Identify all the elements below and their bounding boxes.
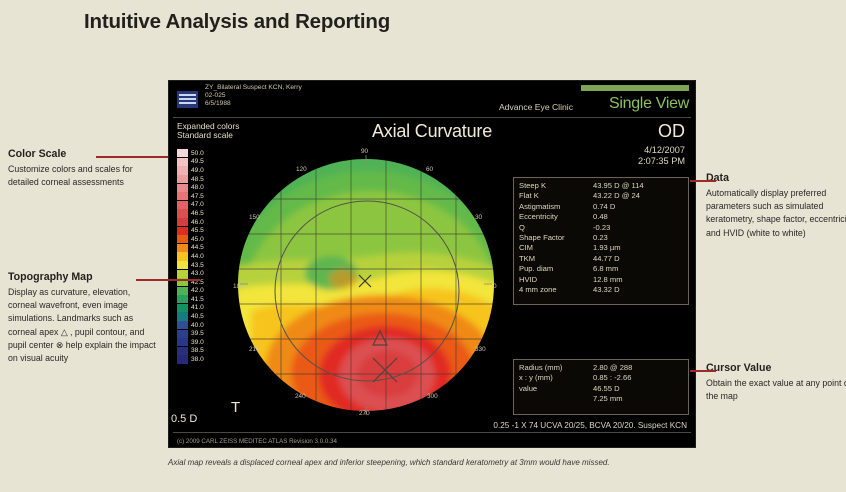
- color-scale-value: 45.0: [191, 236, 204, 243]
- color-scale-value: 41.5: [191, 296, 204, 303]
- data-row-value: 6.8 mm: [593, 264, 683, 274]
- leader-line-topography-map: [136, 279, 200, 281]
- color-swatch: [177, 338, 188, 346]
- color-swatch: [177, 330, 188, 338]
- data-row-key: x : y (mm): [519, 373, 593, 383]
- color-scale-value: 38.0: [191, 356, 204, 363]
- data-row: value46.55 D: [519, 384, 683, 394]
- svg-text:330: 330: [475, 346, 486, 353]
- color-scale-value: 40.5: [191, 313, 204, 320]
- device-screenshot: ZY_Bilateral Suspect KCN, Kerry 02-025 6…: [168, 80, 696, 448]
- data-row-key: value: [519, 384, 593, 394]
- annotation-title: Data: [706, 172, 846, 184]
- data-row: 4 mm zone43.32 D: [519, 285, 683, 295]
- zeiss-logo: [177, 91, 198, 108]
- svg-text:300: 300: [427, 393, 438, 400]
- data-row-value: 1.93 µm: [593, 243, 683, 253]
- color-scale-value: 42.0: [191, 287, 204, 294]
- color-scale-value: 50.0: [191, 150, 204, 157]
- data-row: x : y (mm)0.85 : -2.66: [519, 373, 683, 383]
- leader-line-data: [690, 180, 716, 182]
- data-row-key: HVID: [519, 275, 593, 285]
- patient-id: 02-025: [205, 92, 302, 100]
- annotation-data: Data Automatically display preferred par…: [706, 172, 846, 240]
- color-scale-value: 48.0: [191, 184, 204, 191]
- color-swatch: [177, 166, 188, 174]
- clinic-name: Advance Eye Clinic: [499, 102, 573, 112]
- color-swatch: [177, 192, 188, 200]
- color-scale-value: 47.0: [191, 201, 204, 208]
- patient-info: ZY_Bilateral Suspect KCN, Kerry 02-025 6…: [205, 84, 302, 108]
- svg-text:210: 210: [249, 346, 260, 353]
- color-swatch: [177, 304, 188, 312]
- map-title: Axial Curvature: [169, 121, 695, 142]
- color-scale-value: 39.5: [191, 330, 204, 337]
- data-row: Astigmatism0.74 D: [519, 202, 683, 212]
- device-footer: (c) 2009 CARL ZEISS MEDITEC ATLAS Revisi…: [177, 438, 337, 445]
- cursor-value-panel[interactable]: Radius (mm)2.80 @ 288x : y (mm)0.85 : -2…: [513, 359, 689, 415]
- color-scale-value: 46.5: [191, 210, 204, 217]
- data-row: Radius (mm)2.80 @ 288: [519, 363, 683, 373]
- annotation-body: Automatically display preferred paramete…: [706, 187, 846, 240]
- annotation-cursor-value: Cursor Value Obtain the exact value at a…: [706, 362, 846, 403]
- color-swatch: [177, 175, 188, 183]
- data-row: Shape Factor0.23: [519, 233, 683, 243]
- data-row: Pup. diam6.8 mm: [519, 264, 683, 274]
- data-row-key: Steep K: [519, 181, 593, 191]
- temporal-label: T: [231, 399, 240, 416]
- data-row-key: Radius (mm): [519, 363, 593, 373]
- color-scale-value: 38.5: [191, 347, 204, 354]
- data-row: Flat K43.22 D @ 24: [519, 191, 683, 201]
- svg-text:270: 270: [359, 410, 370, 417]
- color-swatch: [177, 184, 188, 192]
- data-row-key: Pup. diam: [519, 264, 593, 274]
- patient-dob: 6/5/1988: [205, 100, 302, 108]
- color-scale-value: 44.0: [191, 253, 204, 260]
- data-row-key: Shape Factor: [519, 233, 593, 243]
- annotation-title: Topography Map: [8, 271, 158, 283]
- annotation-title: Cursor Value: [706, 362, 846, 374]
- data-row-value: 2.80 @ 288: [593, 363, 683, 373]
- color-swatch: [177, 355, 188, 363]
- data-row-key: Q: [519, 223, 593, 233]
- exam-date: 4/12/2007: [638, 145, 685, 156]
- data-row-key: CIM: [519, 243, 593, 253]
- data-row-value: 0.85 : -2.66: [593, 373, 683, 383]
- header-divider: [173, 117, 691, 118]
- data-row: CIM1.93 µm: [519, 243, 683, 253]
- data-row-value: 0.23: [593, 233, 683, 243]
- color-swatch: [177, 312, 188, 320]
- data-row-value: 44.77 D: [593, 254, 683, 264]
- topography-map-svg: 9012060 15030 1800 210330 240300 270: [221, 143, 511, 433]
- color-scale-value: 40.0: [191, 322, 204, 329]
- color-swatch: [177, 227, 188, 235]
- eye-label: OD: [658, 121, 685, 142]
- color-scale-value: 43.0: [191, 270, 204, 277]
- data-panel[interactable]: Steep K43.95 D @ 114Flat K43.22 D @ 24As…: [513, 177, 689, 305]
- color-swatch: [177, 235, 188, 243]
- data-row: Eccentricity0.48: [519, 212, 683, 222]
- svg-text:30: 30: [475, 214, 483, 221]
- figure-caption: Axial map reveals a displaced corneal ap…: [168, 458, 788, 467]
- data-row-key: [519, 394, 593, 404]
- color-swatch: [177, 295, 188, 303]
- color-scale-value: 44.5: [191, 244, 204, 251]
- view-mode-label[interactable]: Single View: [609, 95, 689, 113]
- data-row-key: 4 mm zone: [519, 285, 593, 295]
- color-scale-value: 39.0: [191, 339, 204, 346]
- color-swatch: [177, 218, 188, 226]
- color-swatch: [177, 287, 188, 295]
- data-row-value: 43.95 D @ 114: [593, 181, 683, 191]
- data-row-key: Flat K: [519, 191, 593, 201]
- data-row-value: 43.22 D @ 24: [593, 191, 683, 201]
- color-scale-value: 49.0: [191, 167, 204, 174]
- patient-name: ZY_Bilateral Suspect KCN, Kerry: [205, 84, 302, 92]
- annotation-title: Color Scale: [8, 148, 158, 160]
- svg-text:90: 90: [361, 148, 369, 155]
- data-row: TKM44.77 D: [519, 254, 683, 264]
- leader-line-color-scale: [96, 156, 168, 158]
- data-row: Q-0.23: [519, 223, 683, 233]
- svg-text:120: 120: [296, 166, 307, 173]
- exam-time: 2:07:35 PM: [638, 156, 685, 167]
- page-title: Intuitive Analysis and Reporting: [84, 10, 390, 34]
- color-swatch: [177, 321, 188, 329]
- color-swatch: [177, 149, 188, 157]
- color-swatch: [177, 209, 188, 217]
- refraction-summary: 0.25 -1 X 74 UCVA 20/25, BCVA 20/20. Sus…: [493, 421, 687, 430]
- data-row-value: 43.32 D: [593, 285, 683, 295]
- data-row-value: 0.74 D: [593, 202, 683, 212]
- color-scale-value: 43.5: [191, 262, 204, 269]
- annotation-color-scale: Color Scale Customize colors and scales …: [8, 148, 158, 189]
- svg-text:0: 0: [493, 283, 497, 290]
- data-row-value: 46.55 D: [593, 384, 683, 394]
- leader-line-cursor-value: [690, 370, 716, 372]
- color-swatch: [177, 252, 188, 260]
- data-row: HVID12.8 mm: [519, 275, 683, 285]
- color-swatch: [177, 347, 188, 355]
- color-swatch: [177, 244, 188, 252]
- view-mode-bar: [581, 85, 689, 91]
- data-row: 7.25 mm: [519, 394, 683, 404]
- color-swatch: [177, 158, 188, 166]
- color-swatch: [177, 270, 188, 278]
- svg-text:60: 60: [426, 166, 434, 173]
- color-scale-value: 45.5: [191, 227, 204, 234]
- color-swatch: [177, 201, 188, 209]
- data-row-value: 0.48: [593, 212, 683, 222]
- annotation-body: Display as curvature, elevation, corneal…: [8, 286, 158, 365]
- topography-map[interactable]: 9012060 15030 1800 210330 240300 270: [221, 143, 511, 433]
- color-scale-value: 48.5: [191, 176, 204, 183]
- data-row-key: TKM: [519, 254, 593, 264]
- color-swatch: [177, 261, 188, 269]
- footer-divider: [173, 432, 691, 433]
- data-row: Steep K43.95 D @ 114: [519, 181, 683, 191]
- color-scale-value: 49.5: [191, 158, 204, 165]
- annotation-body: Customize colors and scales for detailed…: [8, 163, 158, 189]
- data-row-key: Astigmatism: [519, 202, 593, 212]
- color-scale-value: 46.0: [191, 219, 204, 226]
- data-row-value: 7.25 mm: [593, 394, 683, 404]
- data-row-value: -0.23: [593, 223, 683, 233]
- data-row-value: 12.8 mm: [593, 275, 683, 285]
- color-scale-unit: 0.5 D: [171, 413, 197, 425]
- color-scale-value: 41.0: [191, 304, 204, 311]
- exam-datetime: 4/12/2007 2:07:35 PM: [638, 145, 685, 167]
- svg-text:150: 150: [249, 214, 260, 221]
- annotation-topography-map: Topography Map Display as curvature, ele…: [8, 271, 158, 365]
- svg-text:240: 240: [295, 393, 306, 400]
- data-row-key: Eccentricity: [519, 212, 593, 222]
- color-scale-value: 47.5: [191, 193, 204, 200]
- curvature-bands: [221, 143, 511, 433]
- annotation-body: Obtain the exact value at any point on t…: [706, 377, 846, 403]
